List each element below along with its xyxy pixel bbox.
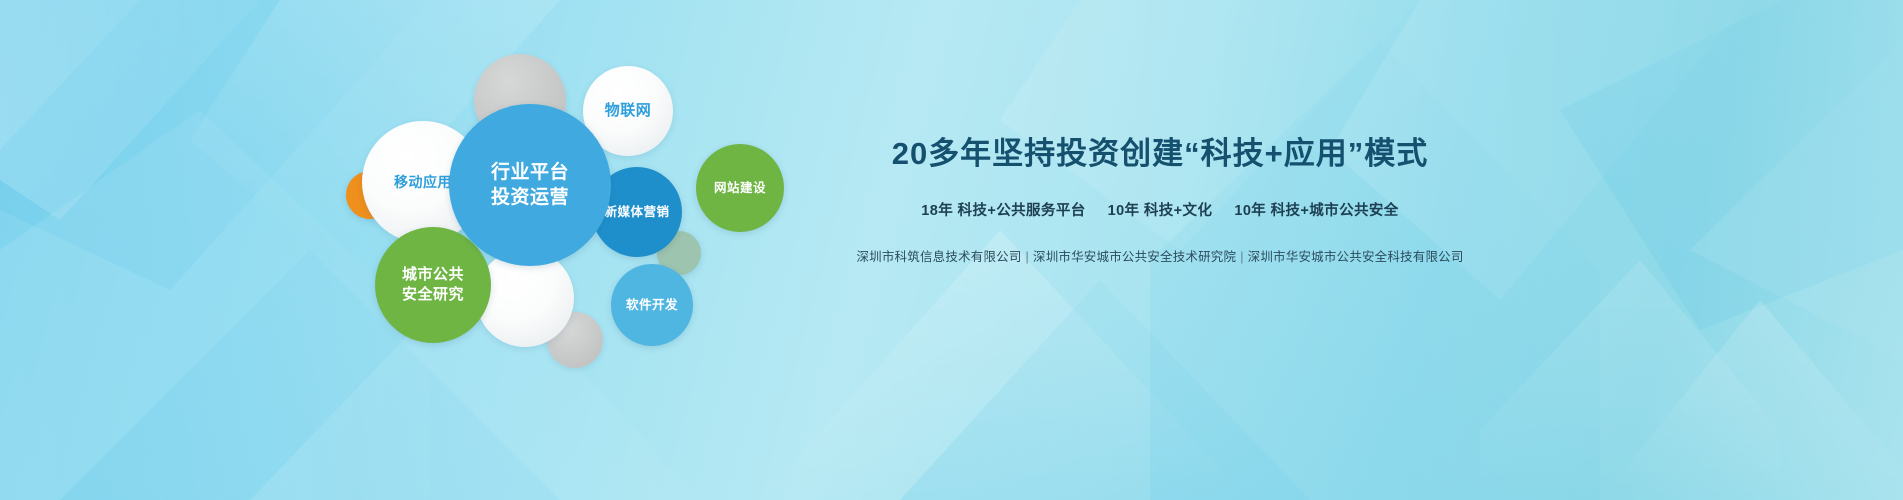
bubble-label: 软件开发 bbox=[626, 297, 678, 314]
subtitle-item: 18年 科技+公共服务平台 bbox=[921, 203, 1085, 219]
page-title: 20多年坚持投资创建“科技+应用”模式 bbox=[830, 128, 1490, 173]
company-separator: | bbox=[1022, 250, 1033, 264]
company-name: 深圳市华安城市公共安全技术研究院 bbox=[1033, 250, 1236, 264]
bubble-industry-platform[interactable]: 行业平台 投资运营 bbox=[449, 104, 611, 266]
bubble-label: 城市公共 安全研究 bbox=[402, 265, 464, 305]
company-name: 深圳市华安城市公共安全科技有限公司 bbox=[1248, 250, 1464, 264]
subtitle-item: 10年 科技+城市公共安全 bbox=[1234, 203, 1398, 219]
bubble-website-construction[interactable]: 网站建设 bbox=[696, 144, 784, 232]
subtitle-line: 18年 科技+公共服务平台10年 科技+文化10年 科技+城市公共安全 bbox=[830, 199, 1490, 220]
subtitle-item: 10年 科技+文化 bbox=[1108, 203, 1213, 219]
company-name: 深圳市科筑信息技术有限公司 bbox=[856, 250, 1021, 264]
company-separator: | bbox=[1236, 250, 1247, 264]
bubble-label: 网站建设 bbox=[714, 180, 766, 197]
hero-banner: 物联网移动应用行业平台 投资运营新媒体营销网站建设城市公共 安全研究软件开发 2… bbox=[0, 0, 1903, 500]
bubble-label: 新媒体营销 bbox=[604, 204, 669, 221]
bubble-urban-safety-research[interactable]: 城市公共 安全研究 bbox=[375, 227, 491, 343]
bubble-cluster: 物联网移动应用行业平台 投资运营新媒体营销网站建设城市公共 安全研究软件开发 bbox=[330, 40, 830, 370]
bubble-label: 行业平台 投资运营 bbox=[491, 160, 569, 210]
hero-text-block: 20多年坚持投资创建“科技+应用”模式 18年 科技+公共服务平台10年 科技+… bbox=[830, 128, 1490, 265]
bubble-label: 移动应用 bbox=[394, 173, 452, 191]
company-list: 深圳市科筑信息技术有限公司|深圳市华安城市公共安全技术研究院|深圳市华安城市公共… bbox=[830, 246, 1490, 265]
bubble-software-development[interactable]: 软件开发 bbox=[611, 264, 693, 346]
bubble-label: 物联网 bbox=[605, 101, 652, 121]
